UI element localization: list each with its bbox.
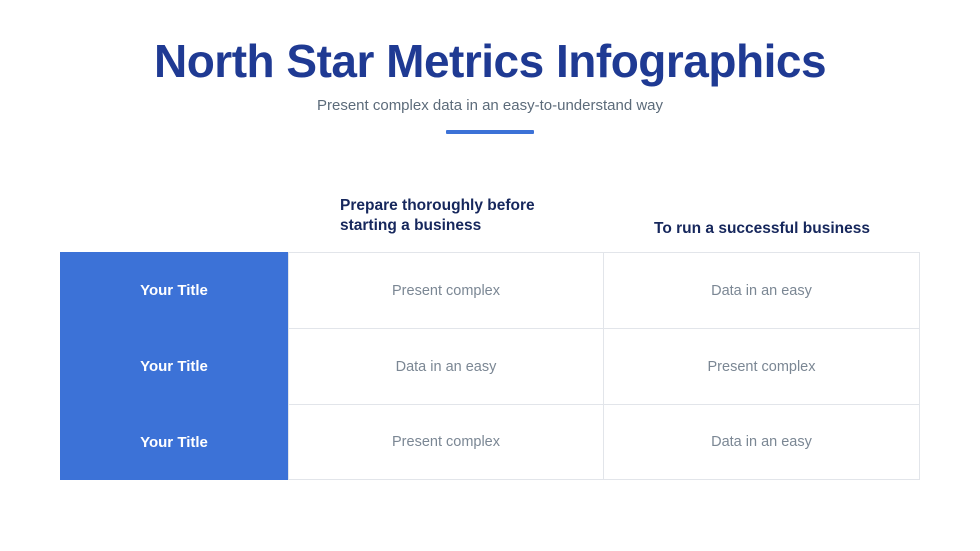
- column-header-1: Prepare thoroughly before starting a bus…: [340, 196, 590, 236]
- row-label-1: Your Title: [60, 252, 288, 328]
- column-headers: Prepare thoroughly before starting a bus…: [0, 196, 980, 246]
- row-label-3: Your Title: [60, 404, 288, 480]
- table-cell-r2c2: Present complex: [604, 328, 920, 404]
- table-row: Your Title Present complex Data in an ea…: [60, 252, 920, 328]
- comparison-table: Your Title Present complex Data in an ea…: [60, 252, 920, 477]
- table-cell-r3c2: Data in an easy: [604, 404, 920, 480]
- table-row: Your Title Data in an easy Present compl…: [60, 328, 920, 404]
- table-cell-r1c1: Present complex: [288, 252, 604, 328]
- table-cell-r1c2: Data in an easy: [604, 252, 920, 328]
- table-row: Your Title Present complex Data in an ea…: [60, 404, 920, 480]
- slide-canvas: North Star Metrics Infographics Present …: [0, 0, 980, 551]
- page-subtitle: Present complex data in an easy-to-under…: [0, 97, 980, 114]
- row-label-2: Your Title: [60, 328, 288, 404]
- page-title: North Star Metrics Infographics: [0, 36, 980, 87]
- table-cell-r2c1: Data in an easy: [288, 328, 604, 404]
- table-cell-r3c1: Present complex: [288, 404, 604, 480]
- column-header-2: To run a successful business: [604, 219, 920, 239]
- title-underline-accent: [446, 130, 534, 134]
